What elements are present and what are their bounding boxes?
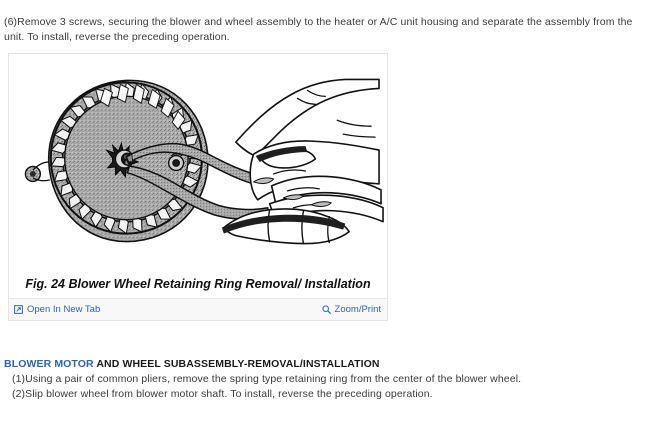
open-in-new-tab-icon [14, 305, 23, 314]
figure-image-container [9, 54, 387, 274]
section-heading: BLOWER MOTOR AND WHEEL SUBASSEMBLY-REMOV… [4, 356, 646, 372]
section-heading-rest: AND WHEEL SUBASSEMBLY-REMOVAL/INSTALLATI… [94, 358, 380, 370]
blower-wheel-illustration [9, 54, 387, 274]
step-line-1: (1)Using a pair of common pliers, remove… [4, 372, 646, 387]
section-heading-highlight: BLOWER MOTOR [4, 358, 94, 370]
figure-toolbar: Open In New Tab Zoom/Print [9, 298, 387, 320]
open-in-new-tab-button[interactable]: Open In New Tab [14, 304, 100, 315]
step-line-2: (2)Slip blower wheel from blower motor s… [4, 387, 646, 402]
open-in-new-tab-label: Open In New Tab [27, 304, 100, 315]
zoom-print-label: Zoom/Print [335, 304, 381, 315]
zoom-print-button[interactable]: Zoom/Print [322, 304, 381, 315]
intro-paragraph: (6)Remove 3 screws, securing the blower … [4, 15, 646, 45]
magnifier-icon [322, 305, 331, 314]
blower-motor-section: BLOWER MOTOR AND WHEEL SUBASSEMBLY-REMOV… [4, 356, 646, 402]
figure-caption: Fig. 24 Blower Wheel Retaining Ring Remo… [9, 274, 387, 298]
figure-panel: Fig. 24 Blower Wheel Retaining Ring Remo… [8, 53, 388, 321]
